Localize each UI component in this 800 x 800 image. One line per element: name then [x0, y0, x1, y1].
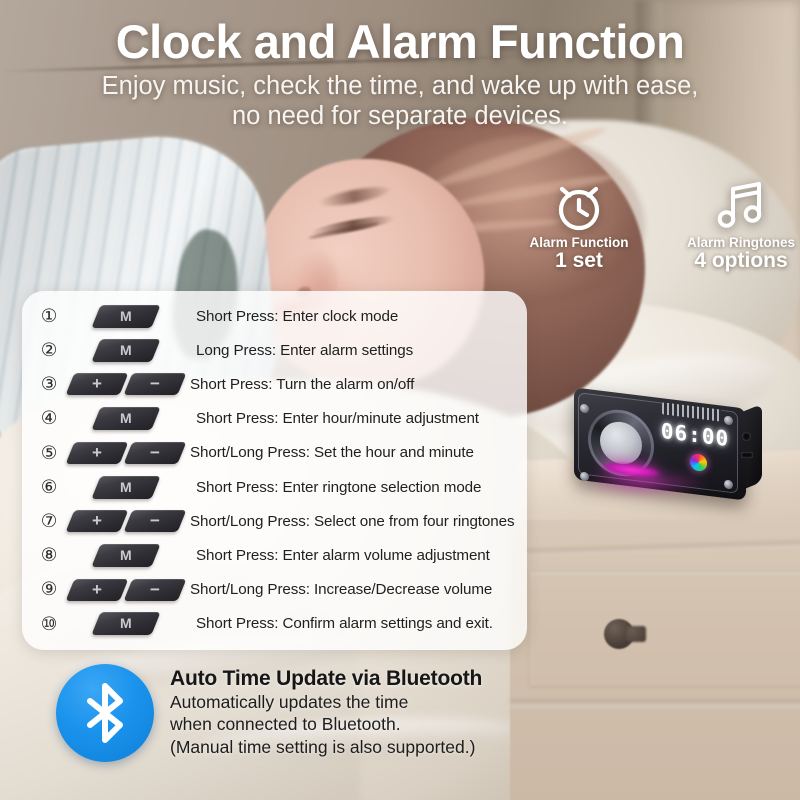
bluetooth-title: Auto Time Update via Bluetooth — [170, 667, 482, 691]
instruction-step-number: ⑤ — [32, 444, 66, 463]
badge-label: Alarm Ringtones — [686, 235, 796, 250]
minus-button-icon: − — [124, 510, 187, 532]
subtitle-line-1: Enjoy music, check the time, and wake up… — [0, 72, 800, 102]
mode-button-icon: M — [91, 544, 160, 567]
mode-button-icon: M — [91, 407, 160, 430]
plus-button-icon: + — [66, 373, 129, 395]
bluetooth-line-2: when connected to Bluetooth. — [170, 713, 482, 735]
alarm-clock-icon — [524, 178, 634, 234]
instruction-description: Short Press: Enter hour/minute adjustmen… — [196, 410, 527, 427]
page-subtitle: Enjoy music, check the time, and wake up… — [0, 72, 800, 131]
button-glyph: − — [150, 510, 160, 532]
instruction-button-group: M — [66, 339, 196, 362]
instruction-description: Short Press: Turn the alarm on/off — [190, 376, 527, 393]
minus-button-icon: − — [124, 442, 187, 464]
button-glyph: M — [120, 339, 132, 362]
button-glyph: + — [92, 510, 102, 532]
button-glyph: M — [120, 544, 132, 567]
minus-button-icon: − — [124, 579, 187, 601]
bluetooth-icon — [56, 664, 154, 762]
instruction-step-number: ③ — [32, 375, 66, 394]
badge-value: 4 options — [686, 250, 796, 272]
instruction-row: ⑩MShort Press: Confirm alarm settings an… — [22, 607, 527, 641]
instruction-button-group: M — [66, 612, 196, 635]
mode-button-icon: M — [91, 339, 160, 362]
instruction-step-number: ② — [32, 341, 66, 360]
instruction-button-group: M — [66, 476, 196, 499]
bluetooth-line-1: Automatically updates the time — [170, 691, 482, 713]
instruction-row: ①MShort Press: Enter clock mode — [22, 299, 527, 333]
speaker-usb-port — [741, 452, 753, 458]
instruction-row: ③+−Short Press: Turn the alarm on/off — [22, 367, 527, 401]
badge-label: Alarm Function — [524, 235, 634, 250]
nightstand-knob-stem — [626, 626, 646, 642]
button-glyph: M — [120, 476, 132, 499]
mode-button-icon: M — [91, 612, 160, 635]
instruction-description: Short Press: Enter clock mode — [196, 308, 527, 325]
badge-alarm-ringtones: Alarm Ringtones 4 options — [686, 178, 796, 278]
instruction-row: ⑦+−Short/Long Press: Select one from fou… — [22, 504, 527, 538]
instruction-step-number: ⑦ — [32, 512, 66, 531]
instruction-row: ⑨+−Short/Long Press: Increase/Decrease v… — [22, 573, 527, 607]
button-glyph: + — [92, 579, 102, 601]
button-glyph: M — [120, 407, 132, 430]
button-glyph: M — [120, 612, 132, 635]
badge-alarm-function: Alarm Function 1 set — [524, 178, 634, 278]
plus-button-icon: + — [66, 510, 129, 532]
instruction-description: Short Press: Confirm alarm settings and … — [196, 615, 527, 632]
instruction-button-group: +− — [66, 442, 190, 464]
button-glyph: − — [150, 579, 160, 601]
instruction-button-group: M — [66, 407, 196, 430]
badge-value: 1 set — [524, 250, 634, 272]
instruction-step-number: ⑩ — [32, 615, 66, 634]
instruction-step-number: ① — [32, 307, 66, 326]
header: Clock and Alarm Function Enjoy music, ch… — [0, 18, 800, 131]
instruction-row: ⑧MShort Press: Enter alarm volume adjust… — [22, 538, 527, 572]
music-note-icon — [686, 178, 796, 234]
product-speaker: 06:00 — [566, 392, 762, 502]
instruction-button-group: +− — [66, 373, 190, 395]
instruction-button-group: +− — [66, 510, 190, 532]
instruction-row: ②MLong Press: Enter alarm settings — [22, 333, 527, 367]
button-glyph: − — [150, 442, 160, 464]
minus-button-icon: − — [124, 373, 187, 395]
instructions-panel: ①MShort Press: Enter clock mode②MLong Pr… — [22, 291, 527, 650]
feature-badges: Alarm Function 1 set Alarm Ringtones 4 o… — [520, 178, 800, 278]
button-glyph: + — [92, 373, 102, 395]
instruction-description: Short/Long Press: Select one from four r… — [190, 513, 527, 530]
instruction-step-number: ⑧ — [32, 546, 66, 565]
instruction-description: Short/Long Press: Set the hour and minut… — [190, 444, 527, 461]
bluetooth-line-3: (Manual time setting is also supported.) — [170, 736, 482, 758]
mode-button-icon: M — [91, 305, 160, 328]
speaker-aux-port — [742, 432, 751, 441]
speaker-corner-screw — [724, 479, 733, 489]
plus-button-icon: + — [66, 442, 129, 464]
instruction-button-group: M — [66, 544, 196, 567]
page-title: Clock and Alarm Function — [0, 18, 800, 66]
bluetooth-feature-block: Auto Time Update via Bluetooth Automatic… — [56, 664, 576, 784]
plus-button-icon: + — [66, 579, 129, 601]
mode-button-icon: M — [91, 476, 160, 499]
speaker-corner-screw — [724, 415, 733, 425]
speaker-corner-screw — [580, 471, 589, 481]
speaker-corner-screw — [580, 403, 589, 413]
instruction-description: Long Press: Enter alarm settings — [196, 342, 527, 359]
instruction-row: ④MShort Press: Enter hour/minute adjustm… — [22, 402, 527, 436]
subtitle-line-2: no need for separate devices. — [0, 102, 800, 132]
instruction-row: ⑤+−Short/Long Press: Set the hour and mi… — [22, 436, 527, 470]
instruction-description: Short Press: Enter alarm volume adjustme… — [196, 547, 527, 564]
instruction-row: ⑥MShort Press: Enter ringtone selection … — [22, 470, 527, 504]
instruction-description: Short/Long Press: Increase/Decrease volu… — [190, 581, 527, 598]
instruction-step-number: ⑥ — [32, 478, 66, 497]
button-glyph: + — [92, 442, 102, 464]
instruction-button-group: M — [66, 305, 196, 328]
instruction-description: Short Press: Enter ringtone selection mo… — [196, 479, 527, 496]
bluetooth-text: Auto Time Update via Bluetooth Automatic… — [170, 664, 482, 784]
button-glyph: M — [120, 305, 132, 328]
infographic-stage: 06:00 Clock and Alarm Function Enjoy mus… — [0, 0, 800, 800]
instruction-step-number: ⑨ — [32, 580, 66, 599]
instruction-button-group: +− — [66, 579, 190, 601]
button-glyph: − — [150, 373, 160, 395]
instruction-step-number: ④ — [32, 409, 66, 428]
